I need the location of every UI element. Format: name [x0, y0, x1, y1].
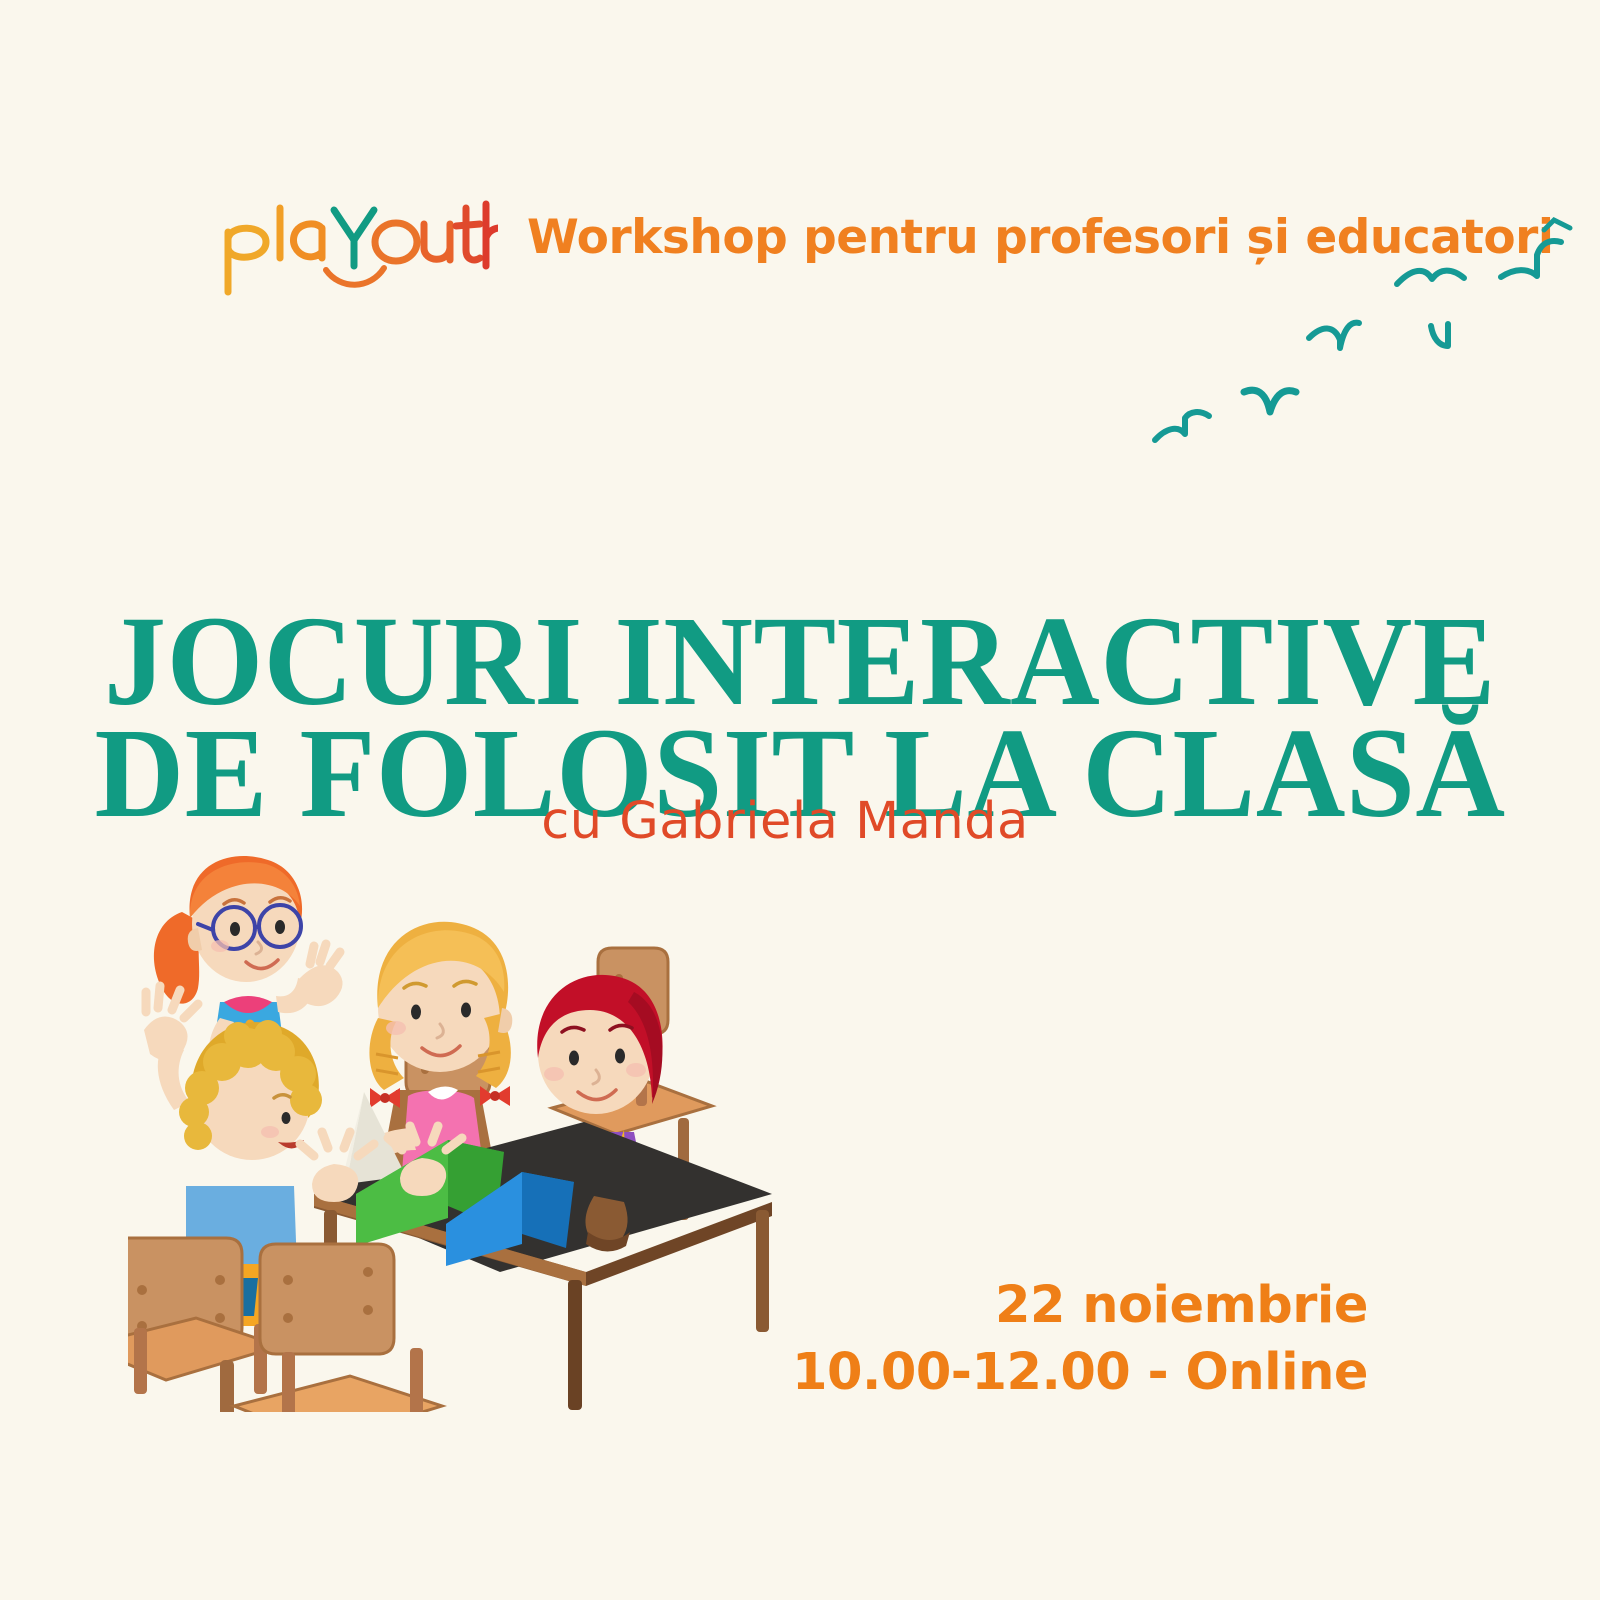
shoe — [585, 1196, 630, 1252]
playouth-logo[interactable] — [218, 196, 498, 296]
hand-left-on-green-book — [312, 1164, 358, 1202]
event-time-location: 10.00-12.00 - Online — [792, 1339, 1368, 1406]
poster-canvas: Workshop pentru profesori și educatori — [0, 0, 1600, 1600]
title-line-1: JOCURI INTERACTIVE — [24, 605, 1576, 718]
event-date: 22 noiembrie — [792, 1272, 1368, 1339]
classroom-illustration — [128, 812, 778, 1412]
children-reading-at-desk-icon — [128, 812, 778, 1412]
event-details: 22 noiembrie 10.00-12.00 - Online — [792, 1272, 1368, 1407]
playouth-logo-mark — [218, 196, 498, 296]
workshop-kicker: Workshop pentru profesori și educatori — [527, 213, 1553, 264]
